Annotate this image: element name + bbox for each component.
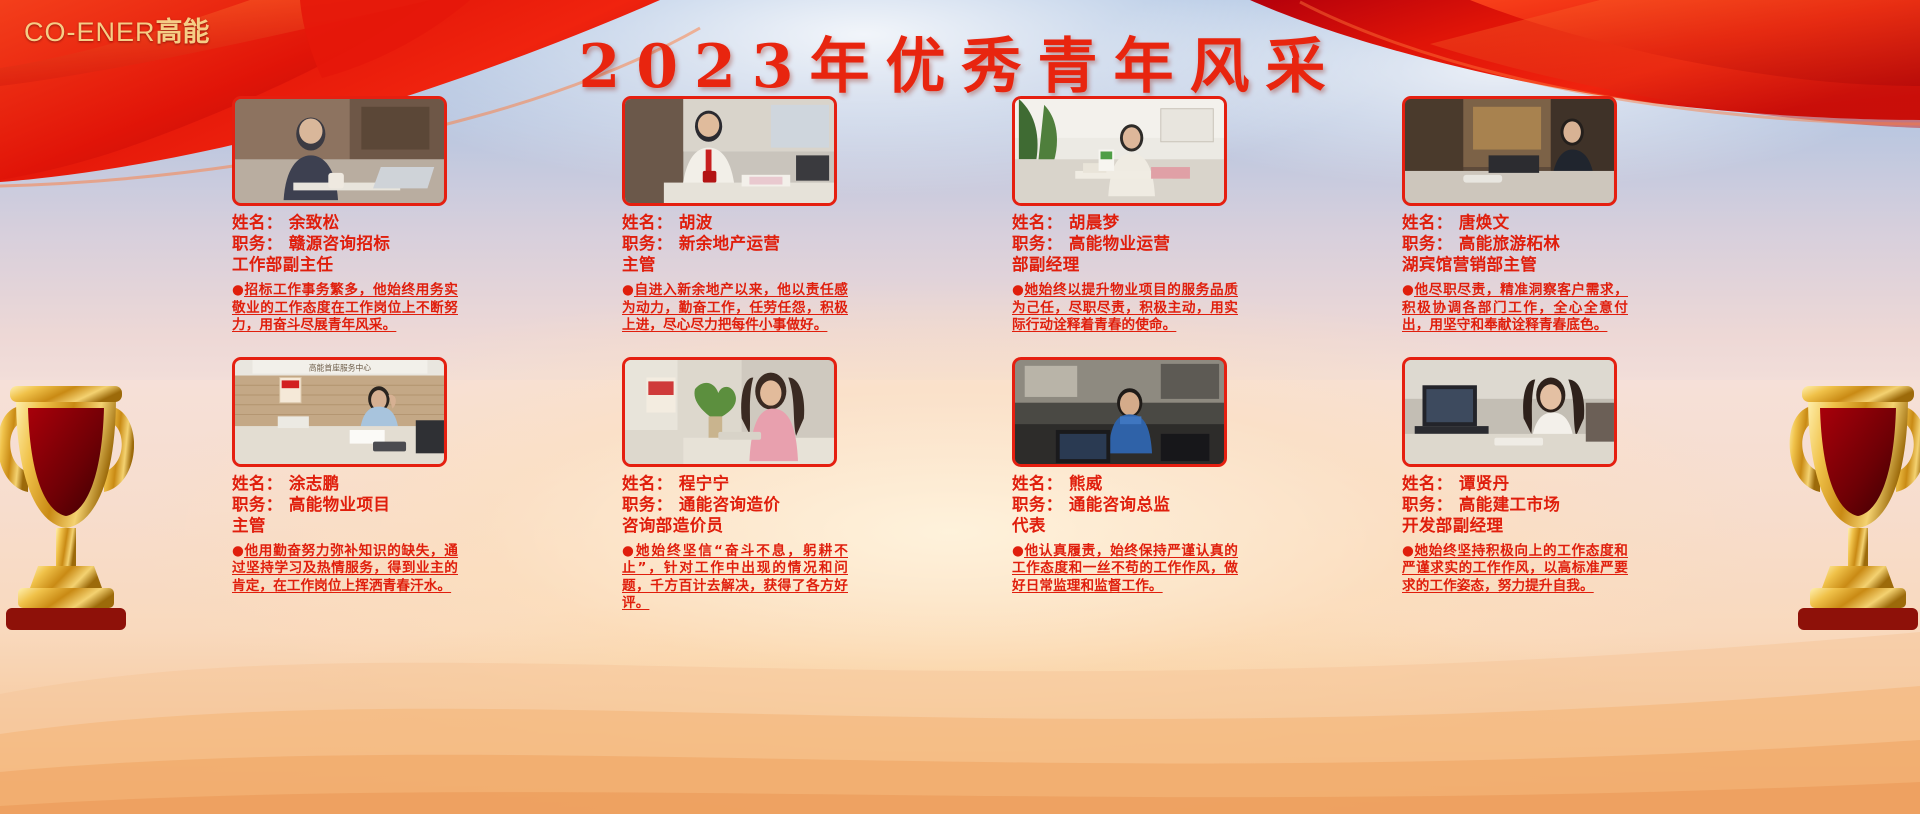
bullet-icon: ● — [622, 543, 634, 561]
bullet-icon: ● — [1402, 543, 1414, 561]
profile-photo — [1012, 96, 1227, 206]
profile-meta: 姓名： 涂志鹏 职务： 高能物业项目 主管 — [232, 473, 532, 536]
profile-photo — [1402, 96, 1617, 206]
profile-description: ●他用勤奋努力弥补知识的缺失，通过坚持学习及热情服务，得到业主的肯定，在工作岗位… — [232, 543, 458, 596]
photo-art — [625, 99, 834, 206]
profile-card: 姓名： 唐焕文 职务： 高能旅游柘林 湖宾馆营销部主管 ●他尽职尽责，精准洞察客… — [1402, 96, 1702, 335]
profile-role-line-1: 职务： 通能咨询总监 — [1012, 494, 1312, 515]
profile-role-line-1: 职务： 高能建工市场 — [1402, 494, 1702, 515]
profile-card: 姓名： 余致松 职务： 赣源咨询招标 工作部副主任 ●招标工作事务繁多，他始终用… — [232, 96, 532, 335]
description-text: 招标工作事务繁多，他始终用务实敬业的工作态度在工作岗位上不断努力，用奋斗尽展青年… — [232, 282, 458, 333]
photo-art — [1405, 99, 1614, 206]
profile-photo — [1012, 357, 1227, 467]
page-title: 2023年优秀青年风采 — [0, 18, 1920, 105]
profile-name: 姓名： 谭贤丹 — [1402, 473, 1702, 494]
photo-art — [1405, 360, 1614, 467]
profile-meta: 姓名： 余致松 职务： 赣源咨询招标 工作部副主任 — [232, 212, 532, 275]
profile-role-line-1: 职务： 高能旅游柘林 — [1402, 233, 1702, 254]
profile-role-line-2: 咨询部造价员 — [622, 515, 922, 536]
profile-card: 姓名： 程宁宁 职务： 通能咨询造价 咨询部造价员 ●她始终坚信“奋斗不息，躬耕… — [622, 357, 922, 613]
profile-description: ●他尽职尽责，精准洞察客户需求，积极协调各部门工作，全心全意付出，用坚守和奉献诠… — [1402, 282, 1628, 335]
profile-name: 姓名： 涂志鹏 — [232, 473, 532, 494]
profile-row-1: 姓名： 余致松 职务： 赣源咨询招标 工作部副主任 ●招标工作事务繁多，他始终用… — [232, 96, 1702, 335]
description-text: 她始终坚持积极向上的工作态度和严谨求实的工作作风，以高标准严要求的工作姿态，努力… — [1402, 543, 1628, 594]
photo-art — [1015, 99, 1224, 206]
profile-name: 姓名： 唐焕文 — [1402, 212, 1702, 233]
profile-name: 姓名： 胡晨梦 — [1012, 212, 1312, 233]
profile-role-line-1: 职务： 新余地产运营 — [622, 233, 922, 254]
profile-card: 高能首座服务中心 — [232, 357, 532, 613]
description-text: 他尽职尽责，精准洞察客户需求，积极协调各部门工作，全心全意付出，用坚守和奉献诠释… — [1402, 282, 1628, 333]
bullet-icon: ● — [622, 282, 634, 300]
profile-meta: 姓名： 胡波 职务： 新余地产运营 主管 — [622, 212, 922, 275]
bullet-icon: ● — [232, 543, 244, 561]
photo-art — [1015, 360, 1224, 467]
profile-description: ●她始终以提升物业项目的服务品质为己任，尽职尽责，积极主动，用实际行动诠释着青春… — [1012, 282, 1238, 335]
photo-art: 高能首座服务中心 — [235, 360, 444, 467]
bullet-icon: ● — [1402, 282, 1414, 300]
profile-role-line-2: 主管 — [232, 515, 532, 536]
profile-role-line-1: 职务： 高能物业项目 — [232, 494, 532, 515]
profile-card: 姓名： 胡波 职务： 新余地产运营 主管 ●自进入新余地产以来，他以责任感为动力… — [622, 96, 922, 335]
profile-description: ●他认真履责，始终保持严谨认真的工作态度和一丝不苟的工作作风，做好日常监理和监督… — [1012, 543, 1238, 596]
profile-row-2: 高能首座服务中心 — [232, 357, 1702, 613]
profile-description: ●自进入新余地产以来，他以责任感为动力，勤奋工作，任劳任怨，积极上进，尽心尽力把… — [622, 282, 848, 335]
profile-description: ●她始终坚信“奋斗不息，躬耕不止”，针对工作中出现的情况和问题，千方百计去解决，… — [622, 543, 848, 613]
profile-meta: 姓名： 熊威 职务： 通能咨询总监 代表 — [1012, 473, 1312, 536]
poster-canvas: CO-ENER高能 2023年优秀青年风采 — [0, 0, 1920, 814]
photo-art — [235, 99, 444, 206]
description-text: 她始终坚信“奋斗不息，躬耕不止”，针对工作中出现的情况和问题，千方百计去解决，获… — [622, 543, 848, 612]
profile-photo: 高能首座服务中心 — [232, 357, 447, 467]
bullet-icon: ● — [1012, 543, 1024, 561]
description-text: 他用勤奋努力弥补知识的缺失，通过坚持学习及热情服务，得到业主的肯定，在工作岗位上… — [232, 543, 458, 594]
profile-photo — [622, 357, 837, 467]
profile-name: 姓名： 胡波 — [622, 212, 922, 233]
profile-role-line-1: 职务： 通能咨询造价 — [622, 494, 922, 515]
profile-card: 姓名： 熊威 职务： 通能咨询总监 代表 ●他认真履责，始终保持严谨认真的工作态… — [1012, 357, 1312, 613]
profile-name: 姓名： 熊威 — [1012, 473, 1312, 494]
profile-photo — [622, 96, 837, 206]
description-text: 他认真履责，始终保持严谨认真的工作态度和一丝不苟的工作作风，做好日常监理和监督工… — [1012, 543, 1238, 594]
photo-art — [625, 360, 834, 467]
profile-photo — [232, 96, 447, 206]
profile-meta: 姓名： 谭贤丹 职务： 高能建工市场 开发部副经理 — [1402, 473, 1702, 536]
description-text: 她始终以提升物业项目的服务品质为己任，尽职尽责，积极主动，用实际行动诠释着青春的… — [1012, 282, 1238, 333]
profile-card: 姓名： 胡晨梦 职务： 高能物业运营 部副经理 ●她始终以提升物业项目的服务品质… — [1012, 96, 1312, 335]
profile-photo — [1402, 357, 1617, 467]
profile-name: 姓名： 程宁宁 — [622, 473, 922, 494]
profile-role-line-2: 工作部副主任 — [232, 254, 532, 275]
profile-role-line-2: 代表 — [1012, 515, 1312, 536]
profile-role-line-2: 部副经理 — [1012, 254, 1312, 275]
profile-role-line-1: 职务： 高能物业运营 — [1012, 233, 1312, 254]
profile-role-line-2: 主管 — [622, 254, 922, 275]
profile-meta: 姓名： 胡晨梦 职务： 高能物业运营 部副经理 — [1012, 212, 1312, 275]
profile-role-line-1: 职务： 赣源咨询招标 — [232, 233, 532, 254]
profile-description: ●她始终坚持积极向上的工作态度和严谨求实的工作作风，以高标准严要求的工作姿态，努… — [1402, 543, 1628, 596]
bullet-icon: ● — [1012, 282, 1024, 300]
profile-role-line-2: 开发部副经理 — [1402, 515, 1702, 536]
profile-grid: 姓名： 余致松 职务： 赣源咨询招标 工作部副主任 ●招标工作事务繁多，他始终用… — [232, 96, 1702, 613]
profile-meta: 姓名： 程宁宁 职务： 通能咨询造价 咨询部造价员 — [622, 473, 922, 536]
profile-name: 姓名： 余致松 — [232, 212, 532, 233]
profile-description: ●招标工作事务繁多，他始终用务实敬业的工作态度在工作岗位上不断努力，用奋斗尽展青… — [232, 282, 458, 335]
profile-role-line-2: 湖宾馆营销部主管 — [1402, 254, 1702, 275]
bullet-icon: ● — [232, 282, 244, 300]
svg-text:高能首座服务中心: 高能首座服务中心 — [309, 362, 371, 372]
profile-meta: 姓名： 唐焕文 职务： 高能旅游柘林 湖宾馆营销部主管 — [1402, 212, 1702, 275]
description-text: 自进入新余地产以来，他以责任感为动力，勤奋工作，任劳任怨，积极上进，尽心尽力把每… — [622, 282, 848, 333]
profile-card: 姓名： 谭贤丹 职务： 高能建工市场 开发部副经理 ●她始终坚持积极向上的工作态… — [1402, 357, 1702, 613]
